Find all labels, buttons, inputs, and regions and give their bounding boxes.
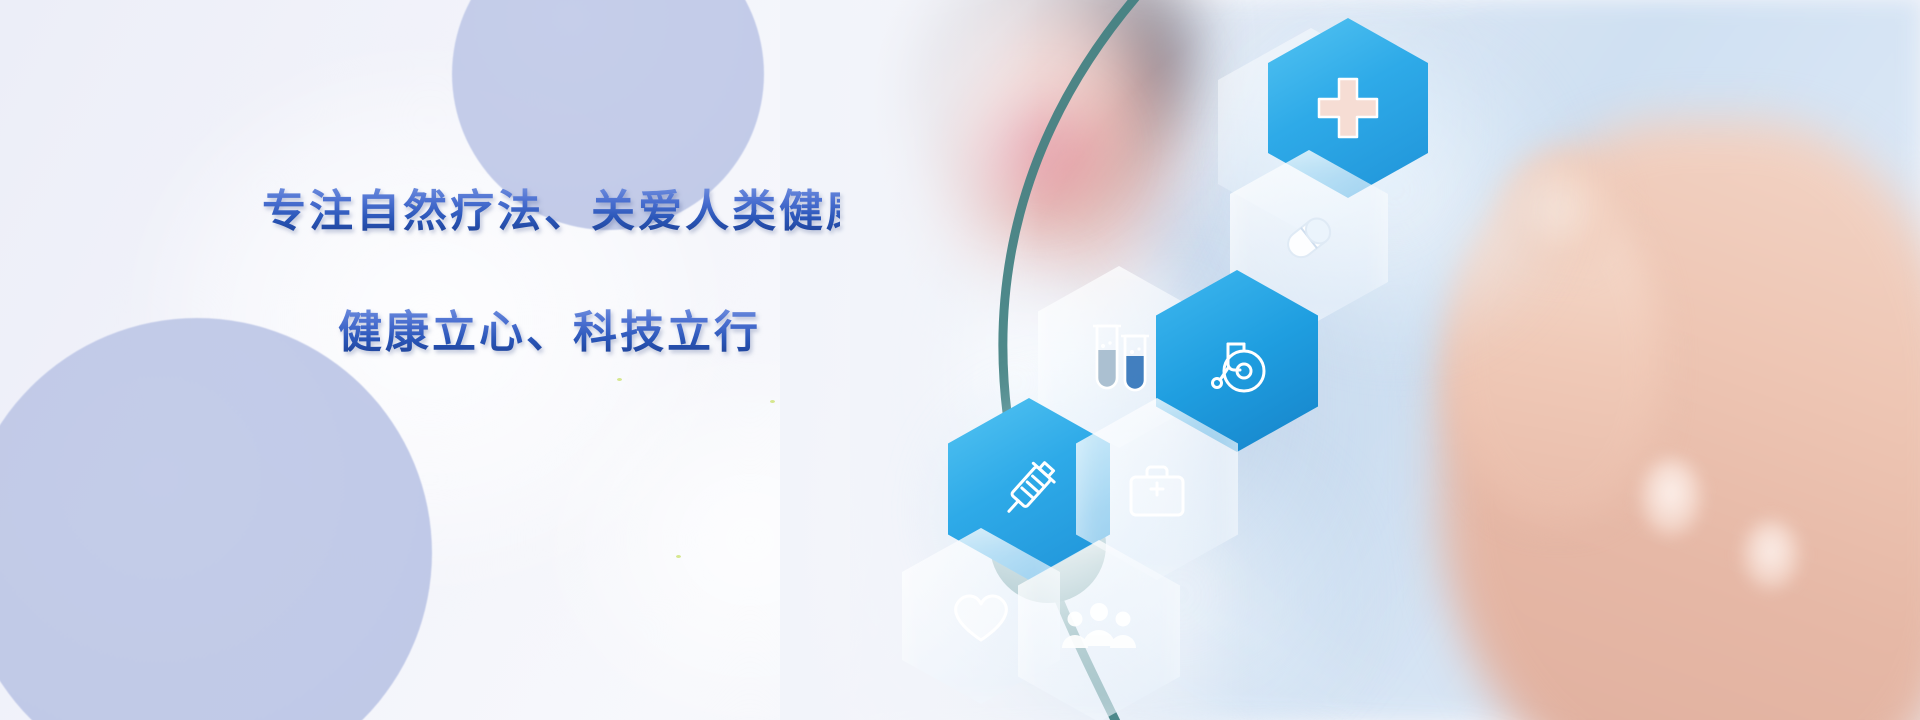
healthcare-hero-banner: 专注自然疗法、关爱人类健康 健康立心、科技立行: [0, 0, 1920, 720]
photo-fingernail-two: [1742, 520, 1800, 590]
hero-photo-panel: [850, 0, 1920, 720]
photo-fingernail-one: [1640, 458, 1702, 536]
headline-line-1: 专注自然疗法、关爱人类健康: [262, 186, 840, 238]
photo-glow-top: [1230, 30, 1560, 350]
background-circle-bottom: [0, 318, 432, 720]
headline-line-2: 健康立心、科技立行: [338, 307, 840, 359]
hero-headline: 专注自然疗法、关爱人类健康 健康立心、科技立行: [0, 186, 840, 359]
hero-photo-mask: [850, 0, 1920, 720]
sparkle-dot: [770, 400, 775, 403]
photo-lips: [960, 100, 1110, 200]
sparkle-dot: [676, 555, 681, 558]
sparkle-dot: [617, 378, 622, 381]
